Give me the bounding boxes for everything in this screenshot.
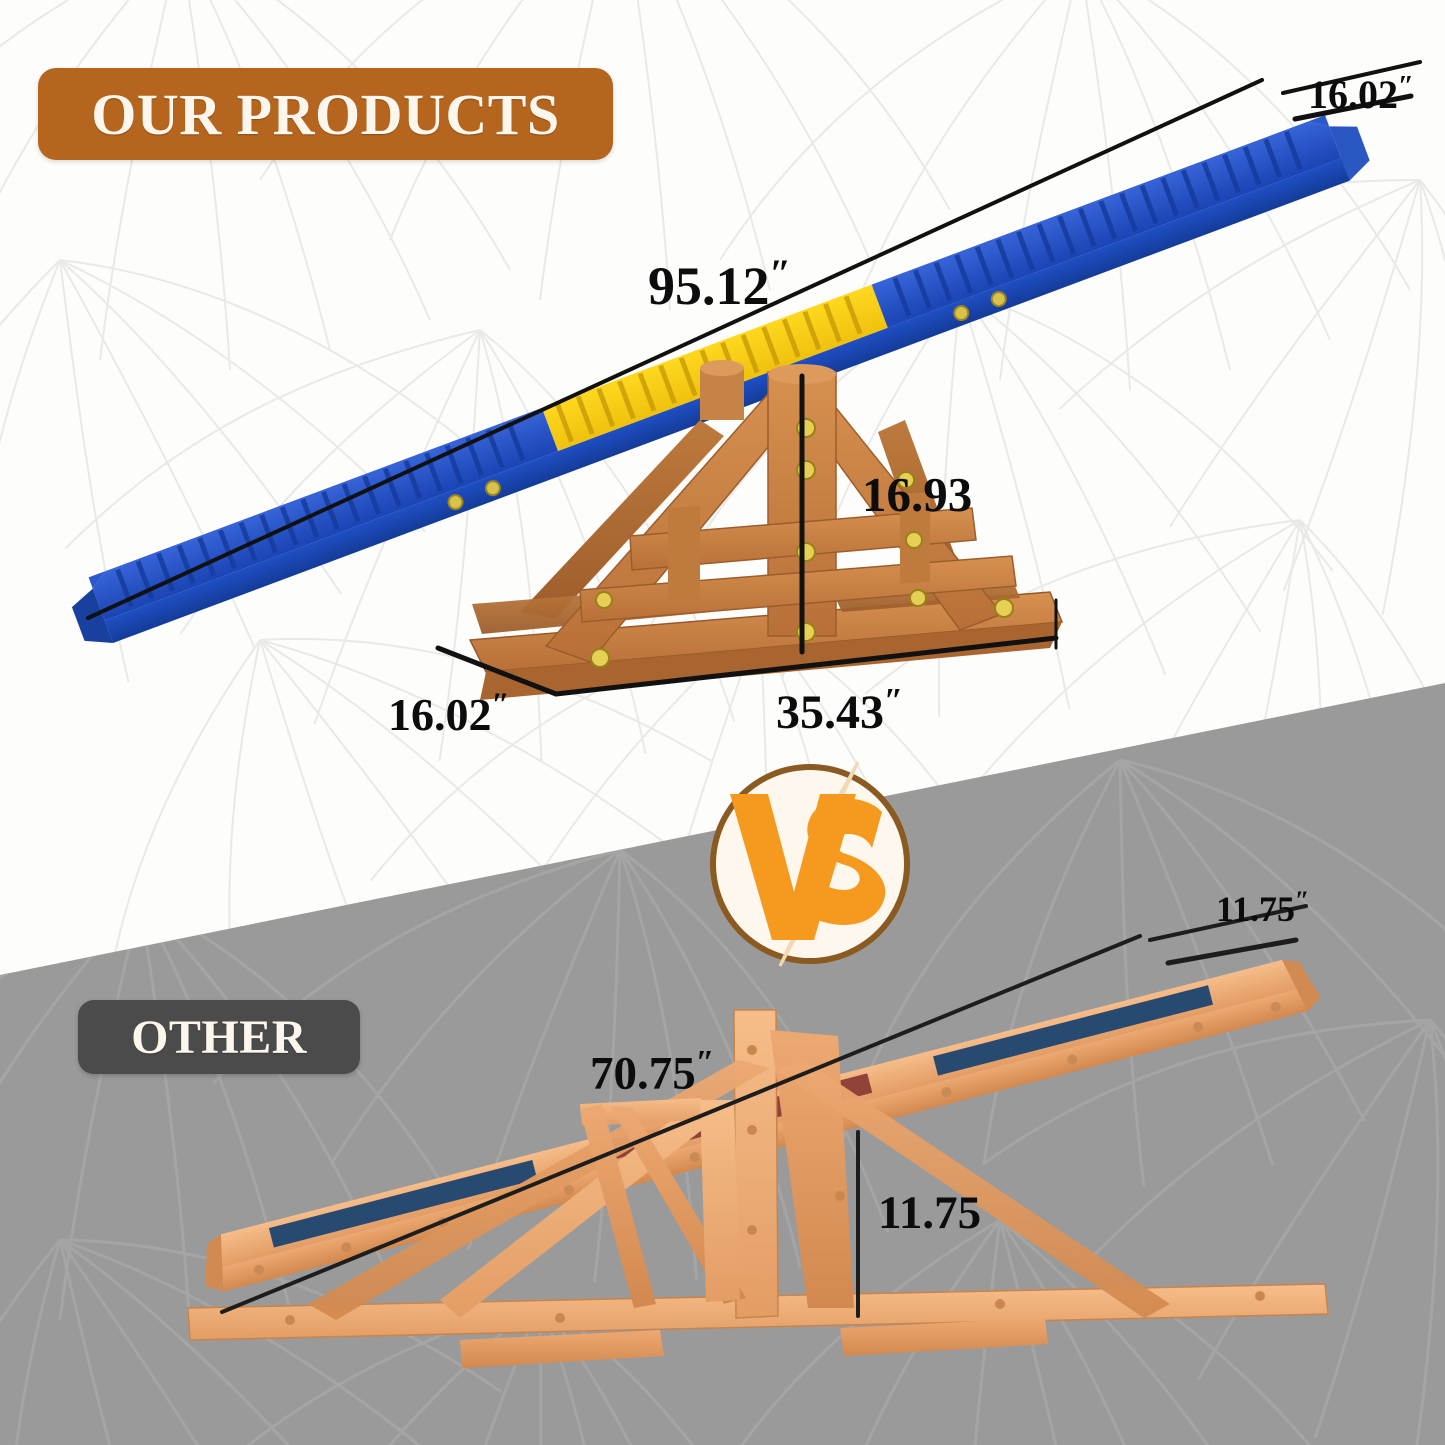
dimension-label-top-base-width: 16.02″	[388, 688, 508, 738]
dimension-label-top-length: 95.12″	[648, 255, 789, 313]
badge-other-label: OTHER	[131, 1010, 307, 1065]
badge-our-products-label: OUR PRODUCTS	[91, 81, 559, 148]
dimension-label-bottom-height: 11.75	[878, 1190, 981, 1237]
dimension-label-top-base-length: 35.43″	[776, 684, 902, 737]
badge-other: OTHER	[78, 1000, 360, 1074]
dimension-label-bottom-width: 11.75″	[1216, 888, 1308, 927]
dimension-label-bottom-length: 70.75″	[590, 1046, 713, 1098]
comparison-infographic: OUR PRODUCTS 95.12″ 16.02″ 16.93 16.02″ …	[0, 0, 1445, 1445]
dimension-label-top-height: 16.93	[862, 470, 972, 519]
dimension-label-top-width: 16.02″	[1308, 72, 1413, 115]
badge-our-products: OUR PRODUCTS	[38, 68, 613, 160]
vs-badge	[706, 760, 914, 968]
